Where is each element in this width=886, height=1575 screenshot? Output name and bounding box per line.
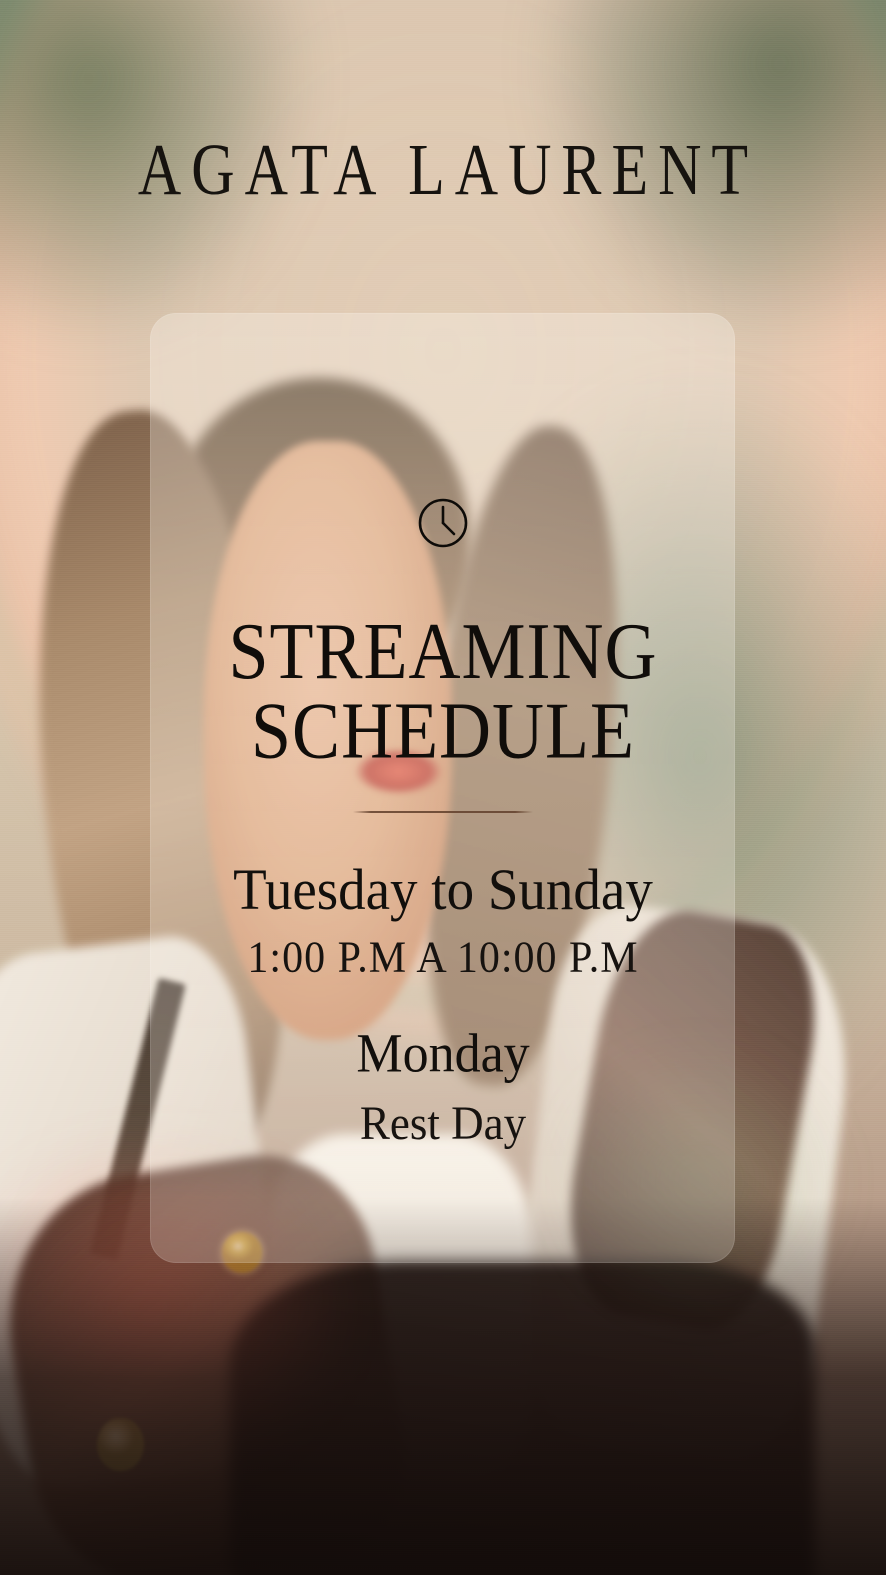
card-headline: STREAMING SCHEDULE <box>0 612 886 772</box>
story-canvas: AGATA LAURENT STREAMING SCHEDULE Tuesday… <box>0 0 886 1575</box>
schedule-row-1-days: Monday <box>0 1027 886 1082</box>
page-title: AGATA LAURENT <box>0 133 886 206</box>
headline-line-1: STREAMING <box>228 606 657 696</box>
schedule-row-0-hours: 1:00 P.M A 10:00 P.M <box>0 936 886 980</box>
schedule-row-1-hours: Rest Day <box>0 1100 886 1147</box>
clock-icon <box>417 497 469 549</box>
headline-line-2: SCHEDULE <box>0 692 886 772</box>
headline-divider <box>353 811 533 813</box>
schedule-row-0-days: Tuesday to Sunday <box>0 860 886 918</box>
